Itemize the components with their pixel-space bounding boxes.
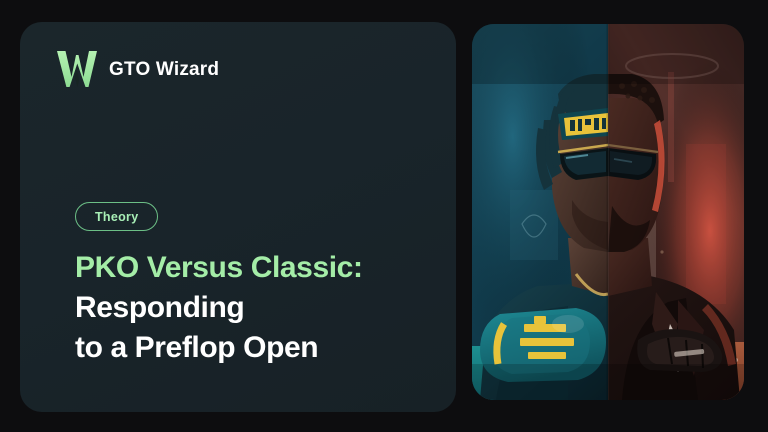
headline-line-2: Responding	[75, 288, 445, 328]
headline-line-3: to a Preflop Open	[75, 328, 445, 368]
headline-line-1: PKO Versus Classic:	[75, 248, 445, 288]
content-card: GTO Wizard Theory PKO Versus Classic: Re…	[20, 22, 456, 412]
split-portrait-illustration	[472, 24, 744, 400]
brand-name: GTO Wizard	[109, 60, 219, 79]
brand-row[interactable]: GTO Wizard	[56, 48, 219, 90]
gto-wizard-w-logo-icon	[56, 49, 98, 89]
category-badge-theory[interactable]: Theory	[75, 202, 158, 231]
article-banner: GTO Wizard Theory PKO Versus Classic: Re…	[0, 0, 768, 432]
article-artwork	[472, 24, 744, 400]
page-title: PKO Versus Classic: Responding to a Pref…	[75, 248, 445, 368]
